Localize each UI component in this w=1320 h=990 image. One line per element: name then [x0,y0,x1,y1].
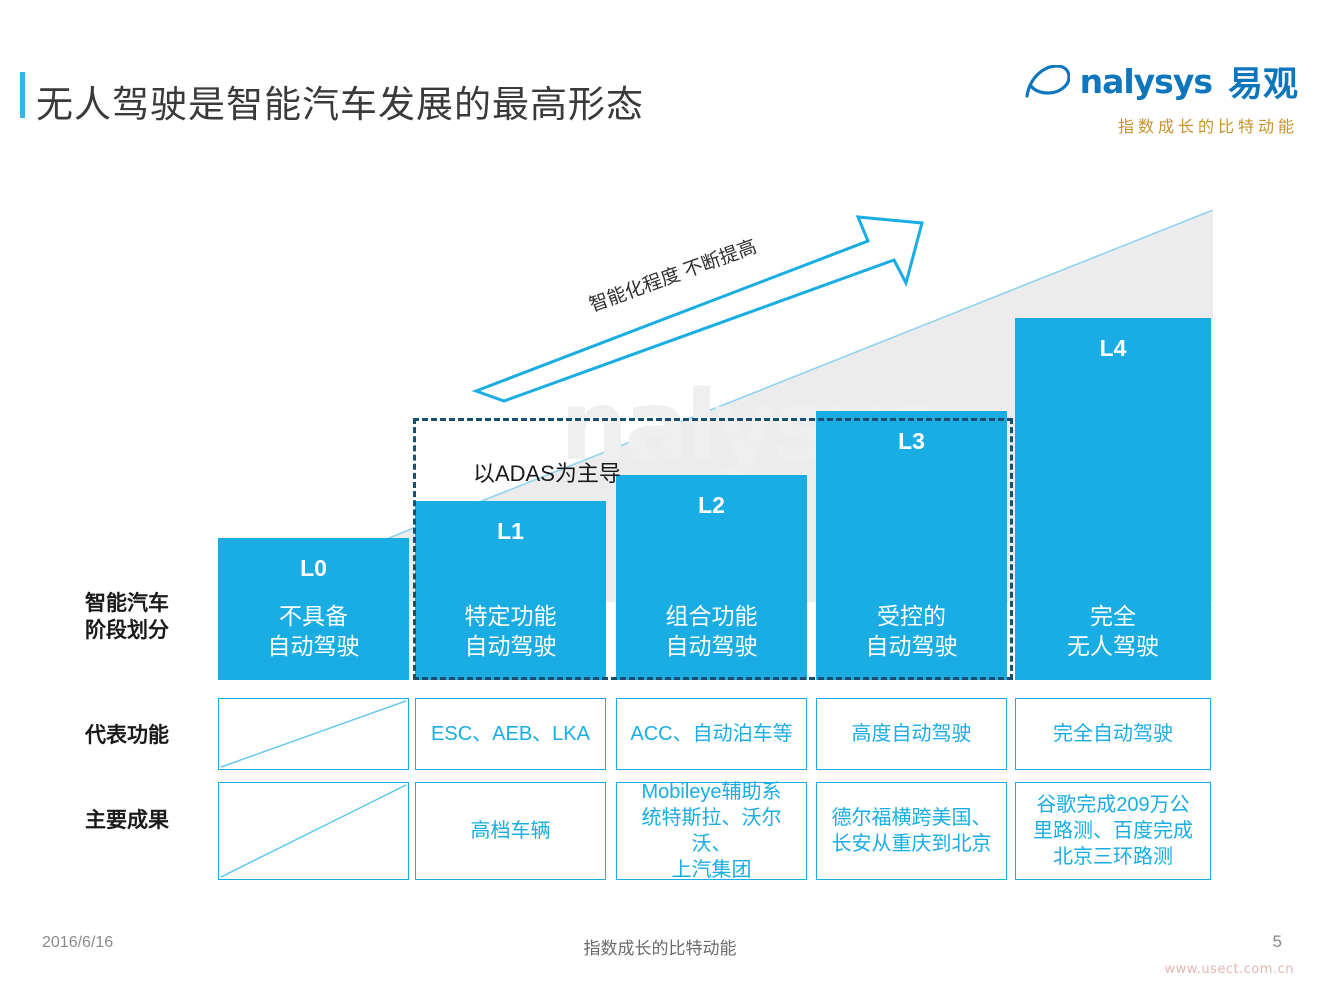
upward-arrow-icon [470,205,970,405]
footer-page-number: 5 [1273,932,1282,952]
row-label-achievements: 主要成果 [52,807,202,834]
footer-slogan: 指数成长的比特动能 [0,934,1320,959]
adas-scope-label: 以ADAS为主导 [473,456,621,488]
feature-cell-l4: 完全自动驾驶 [1015,698,1211,770]
row-label-stages-line1: 智能汽车 [85,592,169,615]
stage-name-line1: 完全 [1090,603,1136,629]
row-label-stages: 智能汽车 阶段划分 [52,590,202,645]
achievement-cell-l0 [218,782,409,880]
row-label-features: 代表功能 [52,722,202,749]
achievement-cell-l1: 高档车辆 [415,782,606,880]
stage-level-label: L4 [1016,335,1210,362]
feature-cell-l1: ESC、AEB、LKA [415,698,606,770]
achievement-cell-l2: Mobileye辅助系 统特斯拉、沃尔沃、 上汽集团 [616,782,807,880]
stage-bar-l4[interactable]: L4 完全 无人驾驶 [1015,318,1211,680]
feature-cell-l2: ACC、自动泊车等 [616,698,807,770]
stage-name-line2: 无人驾驶 [1067,633,1159,659]
empty-diagonal-icon [219,699,408,769]
stage-level-label: L0 [219,555,408,582]
empty-diagonal-icon [219,783,408,879]
diagram-canvas: nalysys 智能化程度 不断提高 以ADAS为主导 L0 不具备 自动驾驶 … [0,0,1320,990]
stage-name-line2: 自动驾驶 [268,633,360,659]
feature-cell-l3: 高度自动驾驶 [816,698,1007,770]
stage-name-line1: 不具备 [279,603,348,629]
footer-url: www.usect.com.cn [1164,962,1294,977]
row-label-stages-line2: 阶段划分 [85,619,169,642]
achievement-cell-l3: 德尔福横跨美国、 长安从重庆到北京 [816,782,1007,880]
achievement-cell-l4: 谷歌完成209万公 里路测、百度完成 北京三环路测 [1015,782,1211,880]
feature-cell-l0 [218,698,409,770]
stage-bar-l0[interactable]: L0 不具备 自动驾驶 [218,538,409,680]
stage-name-label: 完全 无人驾驶 [1016,602,1210,661]
stage-name-label: 不具备 自动驾驶 [219,602,408,661]
